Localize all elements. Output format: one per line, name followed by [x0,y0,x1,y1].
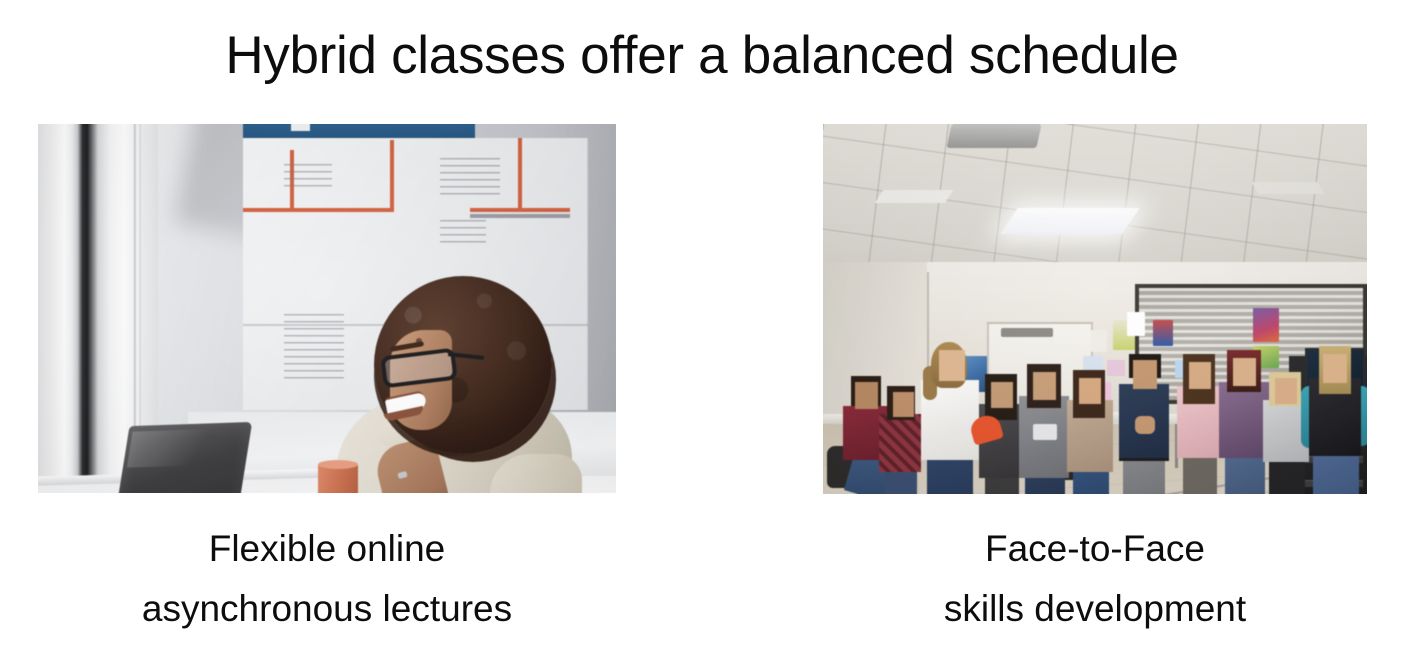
hoodie-graphic [1033,424,1057,440]
student-head [1033,372,1056,400]
ceiling-light-panel [875,190,954,203]
orange-pipe-segment [518,138,522,211]
wall-poster [1107,360,1125,376]
student-legs [1183,452,1217,494]
door-closer [1001,328,1053,337]
page-title: Hybrid classes offer a balanced schedule [0,26,1404,87]
blue-banner [243,124,475,138]
wall-poster [1253,308,1279,342]
student-head [1323,354,1347,383]
caption-in-person: Face-to-Face skills development [823,519,1367,639]
orange-pipe-segment [390,140,394,212]
presenter-head [939,350,965,381]
student-legs [1313,452,1359,494]
poster-text-block [440,158,500,198]
wall-poster [1127,312,1145,336]
wall-poster [1091,330,1107,352]
student-head [1133,360,1157,389]
ceiling-projector [946,124,1041,148]
caption-online-line2: asynchronous lectures [38,579,616,639]
student-legs [1123,460,1165,494]
student-torso [879,414,921,472]
mug-rim [318,460,358,469]
student-head [1189,362,1211,389]
student-head [991,382,1013,408]
grey-pipe-segment [470,214,570,218]
photo-online-learning [38,124,616,493]
clasped-hands [1135,416,1155,434]
student-head [1079,378,1101,404]
poster-text-block [284,164,332,188]
presenter-legs [927,454,973,494]
screen-glare [127,428,229,467]
student-legs [1225,454,1265,494]
caption-online-line1: Flexible online [38,519,616,579]
student-head [893,392,914,417]
student-head [1275,378,1297,404]
ceiling-light-panel [1252,182,1325,194]
caption-in-person-line2: skills development [823,579,1367,639]
caption-online: Flexible online asynchronous lectures [38,519,616,639]
caption-in-person-line1: Face-to-Face [823,519,1367,579]
poster-text-block [440,220,486,246]
wall-poster [1153,320,1173,346]
orange-pipe-segment [470,208,570,212]
orange-pipe-segment [243,208,393,212]
ceiling-light-panel [1000,208,1140,234]
photo-classroom [823,124,1367,494]
banner-notch [291,124,310,131]
poster-text-block [284,314,344,384]
student-torso [1219,382,1269,458]
student-head [855,382,878,409]
student-head [1233,358,1256,386]
